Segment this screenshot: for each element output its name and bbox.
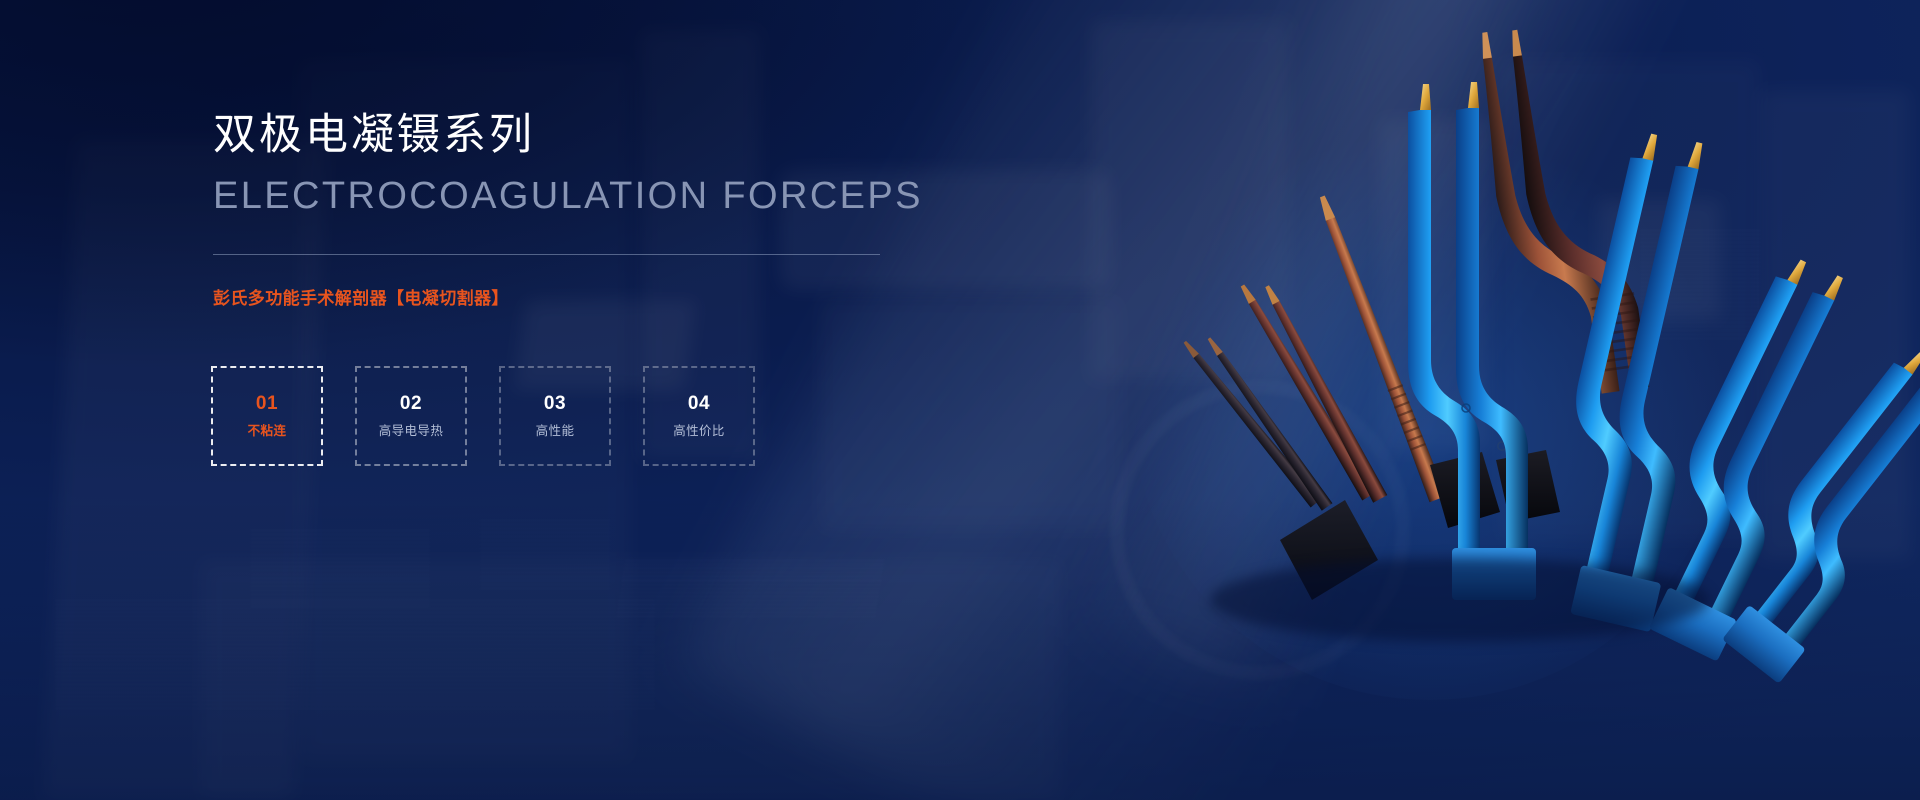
divider xyxy=(213,254,880,255)
feature-box-01[interactable]: 01 不粘连 xyxy=(211,366,323,466)
feature-number: 02 xyxy=(400,394,422,413)
page-title: 双极电凝镊系列 xyxy=(213,108,913,163)
feature-number: 03 xyxy=(544,394,566,413)
banner-copy: 双极电凝镊系列 ELECTROCOAGULATION FORCEPS 彭氏多功能… xyxy=(213,108,913,309)
feature-box-04[interactable]: 04 高性价比 xyxy=(643,366,755,466)
feature-label: 高性能 xyxy=(536,425,575,438)
feature-list: 01 不粘连 02 高导电导热 03 高性能 04 高性价比 xyxy=(211,366,755,466)
feature-label: 高导电导热 xyxy=(379,425,444,438)
feature-box-02[interactable]: 02 高导电导热 xyxy=(355,366,467,466)
feature-box-03[interactable]: 03 高性能 xyxy=(499,366,611,466)
product-tagline: 彭氏多功能手术解剖器【电凝切割器】 xyxy=(213,284,913,309)
product-banner: 双极电凝镊系列 ELECTROCOAGULATION FORCEPS 彭氏多功能… xyxy=(0,0,1920,800)
forceps-product-image xyxy=(1130,0,1920,800)
page-subtitle-en: ELECTROCOAGULATION FORCEPS xyxy=(213,173,913,219)
feature-label: 高性价比 xyxy=(673,425,725,438)
feature-number: 01 xyxy=(256,394,278,413)
feature-number: 04 xyxy=(688,394,710,413)
feature-label: 不粘连 xyxy=(248,425,287,438)
